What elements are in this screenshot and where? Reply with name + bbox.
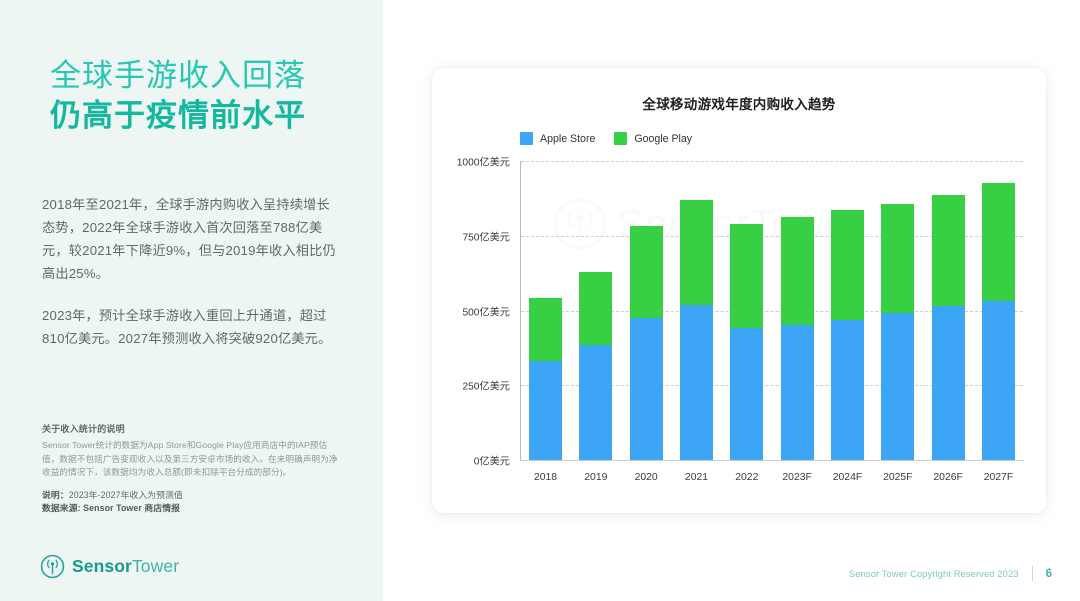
slide: 全球手游收入回落 仍高于疫情前水平 2018年至2021年，全球手游内购收入呈持… [0, 0, 1080, 601]
footnote-explanation-value: 2023年-2027年收入为预测值 [69, 490, 183, 500]
footnote-source: 数据来源: Sensor Tower 商店情报 [42, 502, 342, 516]
title-block: 全球手游收入回落 仍高于疫情前水平 [50, 56, 360, 136]
page-title-line-2: 仍高于疫情前水平 [50, 96, 360, 136]
bar-segment-apple-store[interactable] [982, 301, 1015, 460]
bar-segment-google-play[interactable] [781, 217, 814, 325]
x-axis-tick-label: 2027F [984, 472, 1013, 483]
bar-segment-google-play[interactable] [730, 224, 763, 328]
footnote-block: 关于收入统计的说明 Sensor Tower统计的数据为App Store和Go… [42, 422, 342, 516]
chart-bars: 201820192020202120222023F2024F2025F2026F… [521, 161, 1023, 460]
body-paragraph-2: 2023年，预计全球手游收入重回上升通道，超过810亿美元。2027年预测收入将… [42, 304, 342, 350]
y-axis-tick-label: 250亿美元 [462, 378, 510, 393]
footer-divider [1032, 566, 1033, 581]
copyright-text: Sensor Tower Copyright Reserved 2023 [849, 568, 1019, 579]
logo-wordmark: SensorTower [72, 556, 179, 577]
footnote-explanation-label: 说明： [42, 490, 69, 500]
bar-segment-apple-store[interactable] [630, 318, 663, 460]
x-axis-tick-label: 2018 [534, 472, 557, 483]
sensor-tower-logo: SensorTower [40, 554, 179, 579]
legend-item-google-play[interactable]: Google Play [614, 132, 692, 145]
bar-segment-google-play[interactable] [579, 272, 612, 345]
footnote-heading: 关于收入统计的说明 [42, 422, 342, 435]
chart-legend: Apple Store Google Play [520, 132, 692, 145]
left-panel: 全球手游收入回落 仍高于疫情前水平 2018年至2021年，全球手游内购收入呈持… [0, 0, 383, 601]
bar-segment-google-play[interactable] [529, 298, 562, 361]
page-title-line-1: 全球手游收入回落 [50, 56, 360, 96]
x-axis-tick-label: 2025F [883, 472, 912, 483]
bar-segment-google-play[interactable] [831, 210, 864, 320]
bar-segment-google-play[interactable] [680, 200, 713, 305]
bar-segment-apple-store[interactable] [831, 320, 864, 460]
chart-title: 全球移动游戏年度内购收入趋势 [432, 93, 1046, 113]
footer: Sensor Tower Copyright Reserved 2023 6 [849, 566, 1052, 581]
legend-item-apple-store[interactable]: Apple Store [520, 132, 595, 145]
body-text-block: 2018年至2021年，全球手游内购收入呈持续增长态势，2022年全球手游收入首… [42, 193, 342, 369]
bar-segment-apple-store[interactable] [932, 306, 965, 460]
bar-column[interactable]: 2025F [881, 161, 914, 460]
footnote-body: Sensor Tower统计的数据为App Store和Google Play应… [42, 439, 342, 480]
bar-segment-apple-store[interactable] [881, 313, 914, 460]
y-axis-tick-label: 750亿美元 [462, 228, 510, 243]
bar-column[interactable]: 2027F [982, 161, 1015, 460]
bar-column[interactable]: 2023F [781, 161, 814, 460]
bar-segment-apple-store[interactable] [781, 325, 814, 460]
bar-segment-google-play[interactable] [982, 183, 1015, 300]
legend-swatch-apple-store [520, 132, 533, 145]
x-axis-tick-label: 2023F [782, 472, 811, 483]
legend-label-apple-store: Apple Store [540, 133, 595, 145]
chart-plot-area: 0亿美元250亿美元500亿美元750亿美元1000亿美元 2018201920… [521, 161, 1023, 460]
bar-column[interactable]: 2022 [730, 161, 763, 460]
logo-word-bold: Sensor [72, 556, 132, 576]
bar-segment-apple-store[interactable] [730, 328, 763, 460]
legend-swatch-google-play [614, 132, 627, 145]
bar-segment-apple-store[interactable] [529, 361, 562, 460]
body-paragraph-1: 2018年至2021年，全球手游内购收入呈持续增长态势，2022年全球手游收入首… [42, 193, 342, 285]
x-axis-tick-label: 2024F [833, 472, 862, 483]
x-axis-tick-label: 2019 [584, 472, 607, 483]
bar-column[interactable]: 2024F [831, 161, 864, 460]
x-axis-tick-label: 2020 [635, 472, 658, 483]
bar-segment-google-play[interactable] [630, 226, 663, 318]
y-axis-tick-label: 500亿美元 [462, 303, 510, 318]
x-axis-tick-label: 2026F [933, 472, 962, 483]
y-axis-tick-label: 1000亿美元 [457, 154, 510, 169]
bar-segment-apple-store[interactable] [680, 305, 713, 460]
bar-column[interactable]: 2020 [630, 161, 663, 460]
sensor-tower-signal-icon [40, 554, 65, 579]
bar-column[interactable]: 2018 [529, 161, 562, 460]
bar-column[interactable]: 2026F [932, 161, 965, 460]
bar-column[interactable]: 2021 [680, 161, 713, 460]
y-axis-tick-label: 0亿美元 [474, 453, 510, 468]
bar-column[interactable]: 2019 [579, 161, 612, 460]
legend-label-google-play: Google Play [634, 133, 692, 145]
bar-segment-apple-store[interactable] [579, 345, 612, 460]
bar-segment-google-play[interactable] [932, 195, 965, 305]
chart-card: 全球移动游戏年度内购收入趋势 Apple Store Google Play S… [432, 68, 1046, 513]
x-axis-tick-label: 2021 [685, 472, 708, 483]
bar-segment-google-play[interactable] [881, 204, 914, 313]
logo-word-light: Tower [132, 556, 179, 576]
gridline [521, 460, 1023, 461]
page-number: 6 [1046, 568, 1052, 580]
x-axis-tick-label: 2022 [735, 472, 758, 483]
footnote-explanation: 说明：2023年-2027年收入为预测值 [42, 489, 342, 503]
